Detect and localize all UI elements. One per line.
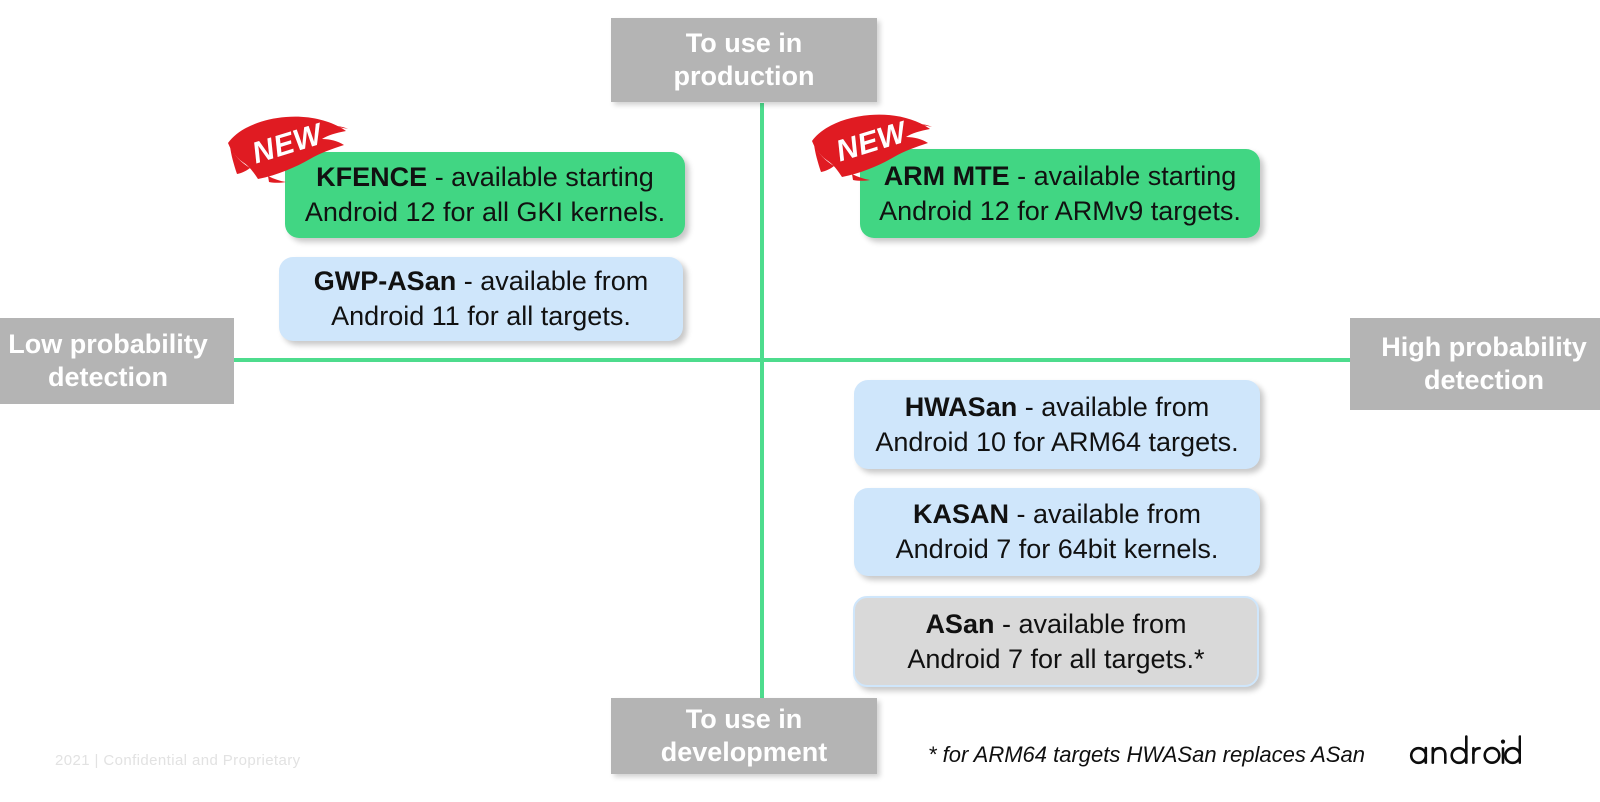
axis-label-low-line2: detection [8,361,208,394]
card-kasan-line2: Android 7 for 64bit kernels. [896,532,1219,567]
card-hwasan-line2: Android 10 for ARM64 targets. [875,425,1238,460]
new-ribbon-badge-arm-mte: NEW [808,111,934,183]
axis-label-production-line2: production [674,60,815,93]
axis-label-high-line2: detection [1381,364,1587,397]
card-gwp-asan[interactable]: GWP-ASan - available from Android 11 for… [279,257,683,341]
android-logo [1409,733,1521,767]
card-hwasan-line1: HWASan - available from [875,390,1238,425]
axis-label-production-line1: To use in [674,27,815,60]
card-asan[interactable]: ASan - available from Android 7 for all … [853,596,1259,687]
card-kfence-line1: KFENCE - available starting [305,160,665,195]
card-kasan-line1: KASAN - available from [896,497,1219,532]
axis-label-development-line2: development [661,736,828,769]
card-kasan-title: KASAN [913,499,1009,529]
axis-label-high-probability-detection: High probability detection [1350,318,1600,410]
horizontal-axis-line [234,358,1350,362]
card-arm-mte-line1-rest: - available starting [1010,161,1237,191]
slide-canvas: To use in production To use in developme… [0,0,1600,802]
card-asan-line2: Android 7 for all targets.* [907,642,1204,677]
card-kfence-line2: Android 12 for all GKI kernels. [305,195,665,230]
axis-label-low-line1: Low probability [8,328,208,361]
card-asan-line1-rest: - available from [994,609,1186,639]
card-gwp-asan-line1: GWP-ASan - available from [314,264,649,299]
card-arm-mte-line2: Android 12 for ARMv9 targets. [879,194,1241,229]
axis-label-low-probability-detection: Low probability detection [0,318,234,404]
card-hwasan[interactable]: HWASan - available from Android 10 for A… [854,380,1260,469]
card-hwasan-title: HWASan [905,392,1018,422]
card-asan-line1: ASan - available from [907,607,1204,642]
footnote-text: * for ARM64 targets HWASan replaces ASan [928,742,1365,768]
android-wordmark-icon [1409,733,1521,767]
card-kasan-line1-rest: - available from [1009,499,1201,529]
axis-label-to-use-in-production: To use in production [611,18,877,102]
vertical-axis-line [760,103,764,720]
new-ribbon-label-kfence: NEW [249,118,327,171]
new-ribbon-badge-kfence: NEW [224,113,350,185]
axis-label-high-line1: High probability [1381,331,1587,364]
axis-label-development-line1: To use in [661,703,828,736]
card-kfence-line1-rest: - available starting [427,162,654,192]
card-gwp-asan-line1-rest: - available from [456,266,648,296]
card-kasan[interactable]: KASAN - available from Android 7 for 64b… [854,488,1260,576]
new-ribbon-label-wrap-arm-mte: NEW [808,111,934,183]
card-gwp-asan-title: GWP-ASan [314,266,457,296]
card-gwp-asan-line2: Android 11 for all targets. [314,299,649,334]
card-hwasan-line1-rest: - available from [1017,392,1209,422]
copyright-text: 2021 | Confidential and Proprietary [55,752,301,769]
card-asan-title: ASan [925,609,994,639]
android-i-dot [1501,740,1505,744]
axis-label-to-use-in-development: To use in development [611,698,877,774]
new-ribbon-label-wrap-kfence: NEW [224,113,350,185]
new-ribbon-label-arm-mte: NEW [833,116,911,169]
